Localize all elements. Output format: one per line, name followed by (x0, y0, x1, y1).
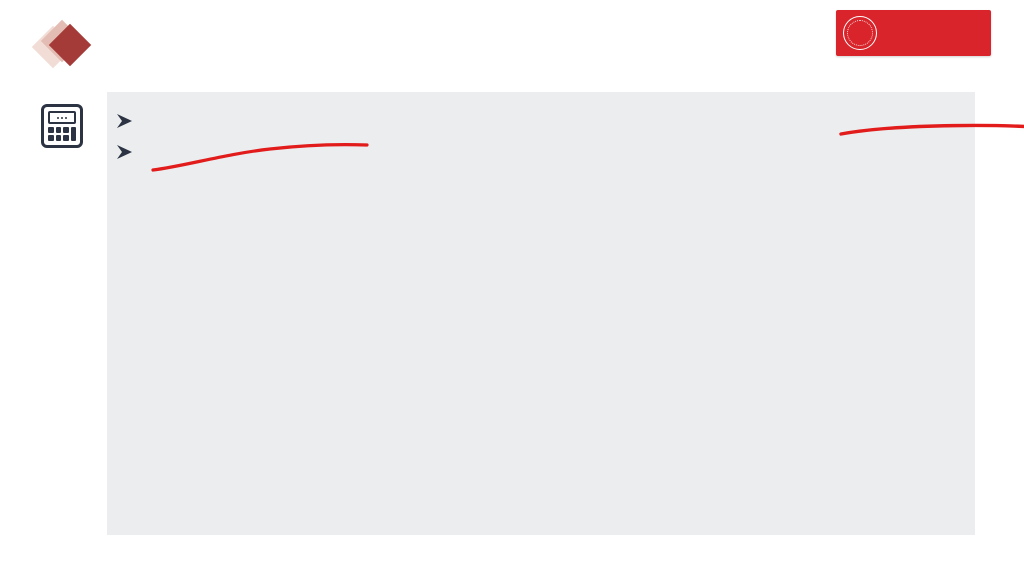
solution-block (115, 137, 967, 160)
logo-seal-icon (843, 16, 877, 50)
brand-logo (836, 10, 991, 56)
calculator-icon (41, 104, 83, 148)
arrow-bullet-icon-solution (115, 137, 145, 160)
calculator-display (48, 111, 76, 124)
content-panel (107, 92, 975, 535)
footer-watermark (150, 512, 510, 560)
slide-header (34, 20, 100, 72)
bottom-accent-bar (293, 545, 299, 553)
calculator-keys (48, 127, 76, 141)
diamond-decoration-icon (34, 20, 94, 72)
question-block (115, 106, 967, 129)
arrow-bullet-icon (115, 106, 145, 129)
slide (0, 0, 1024, 576)
